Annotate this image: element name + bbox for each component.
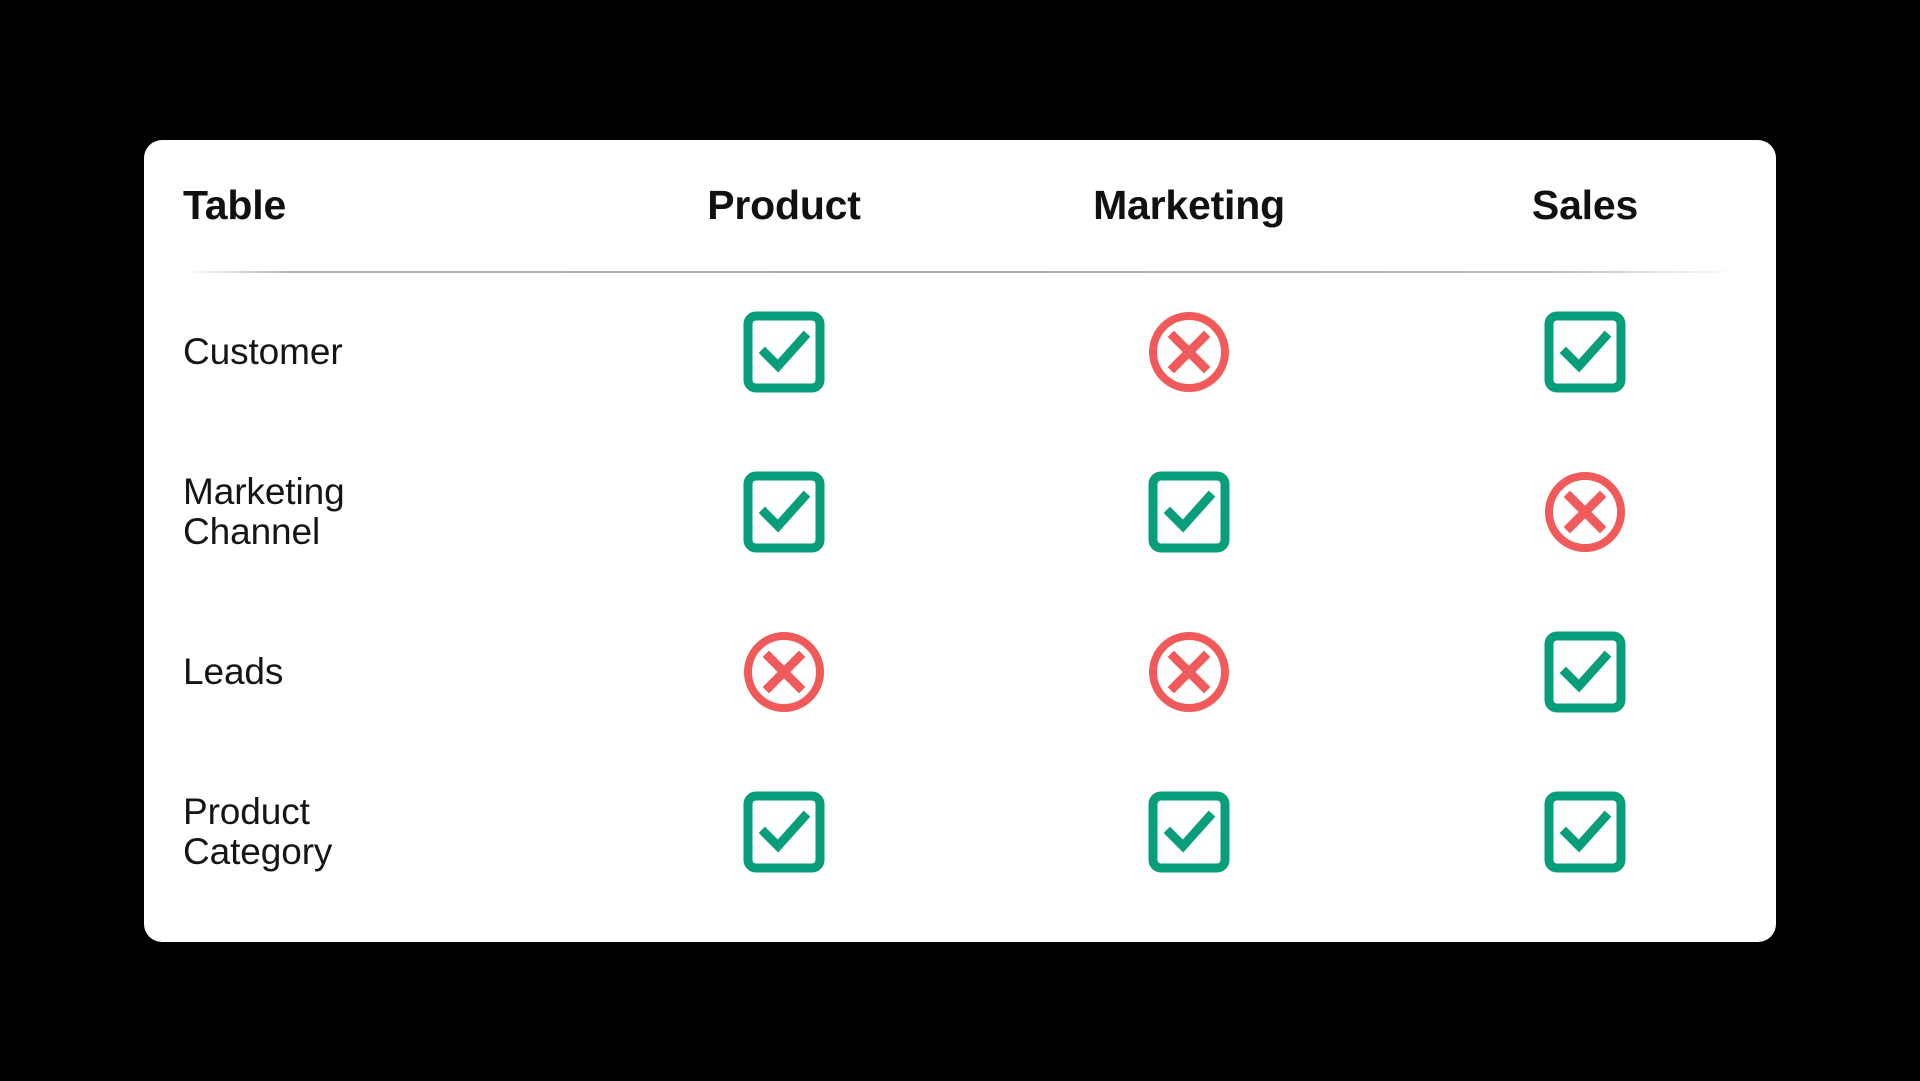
matrix-card: Table Product Marketing Sales Customer — [144, 140, 1776, 942]
checkbox-checked-icon — [738, 306, 830, 398]
column-header-marketing: Marketing — [984, 140, 1394, 272]
checkbox-checked-icon — [1143, 786, 1235, 878]
cell-customer-sales[interactable] — [1394, 272, 1776, 432]
checkbox-checked-icon — [1143, 466, 1235, 558]
cell-leads-product[interactable] — [584, 592, 984, 752]
cell-leads-sales[interactable] — [1394, 592, 1776, 752]
cell-product-category-sales[interactable] — [1394, 752, 1776, 912]
checkbox-checked-icon — [1539, 786, 1631, 878]
circle-x-icon — [1143, 306, 1235, 398]
checkbox-checked-icon — [1539, 306, 1631, 398]
row-label-customer: Customer — [144, 272, 584, 432]
column-header-product: Product — [584, 140, 984, 272]
cell-customer-marketing[interactable] — [984, 272, 1394, 432]
checkbox-checked-icon — [1539, 626, 1631, 718]
circle-x-icon — [1143, 626, 1235, 718]
cell-product-category-marketing[interactable] — [984, 752, 1394, 912]
cell-marketing-channel-marketing[interactable] — [984, 432, 1394, 592]
page-root: Table Product Marketing Sales Customer — [0, 0, 1920, 1081]
row-label-leads: Leads — [144, 592, 584, 752]
cell-product-category-product[interactable] — [584, 752, 984, 912]
row-label-product-category: Product Category — [144, 752, 584, 912]
cell-marketing-channel-product[interactable] — [584, 432, 984, 592]
cell-customer-product[interactable] — [584, 272, 984, 432]
circle-x-icon — [738, 626, 830, 718]
checkbox-checked-icon — [738, 466, 830, 558]
column-header-table: Table — [144, 140, 584, 272]
circle-x-icon — [1539, 466, 1631, 558]
cell-leads-marketing[interactable] — [984, 592, 1394, 752]
column-header-sales: Sales — [1394, 140, 1776, 272]
ownership-matrix-table: Table Product Marketing Sales Customer — [144, 140, 1776, 942]
row-label-marketing-channel: Marketing Channel — [144, 432, 584, 592]
cell-marketing-channel-sales[interactable] — [1394, 432, 1776, 592]
checkbox-checked-icon — [738, 786, 830, 878]
